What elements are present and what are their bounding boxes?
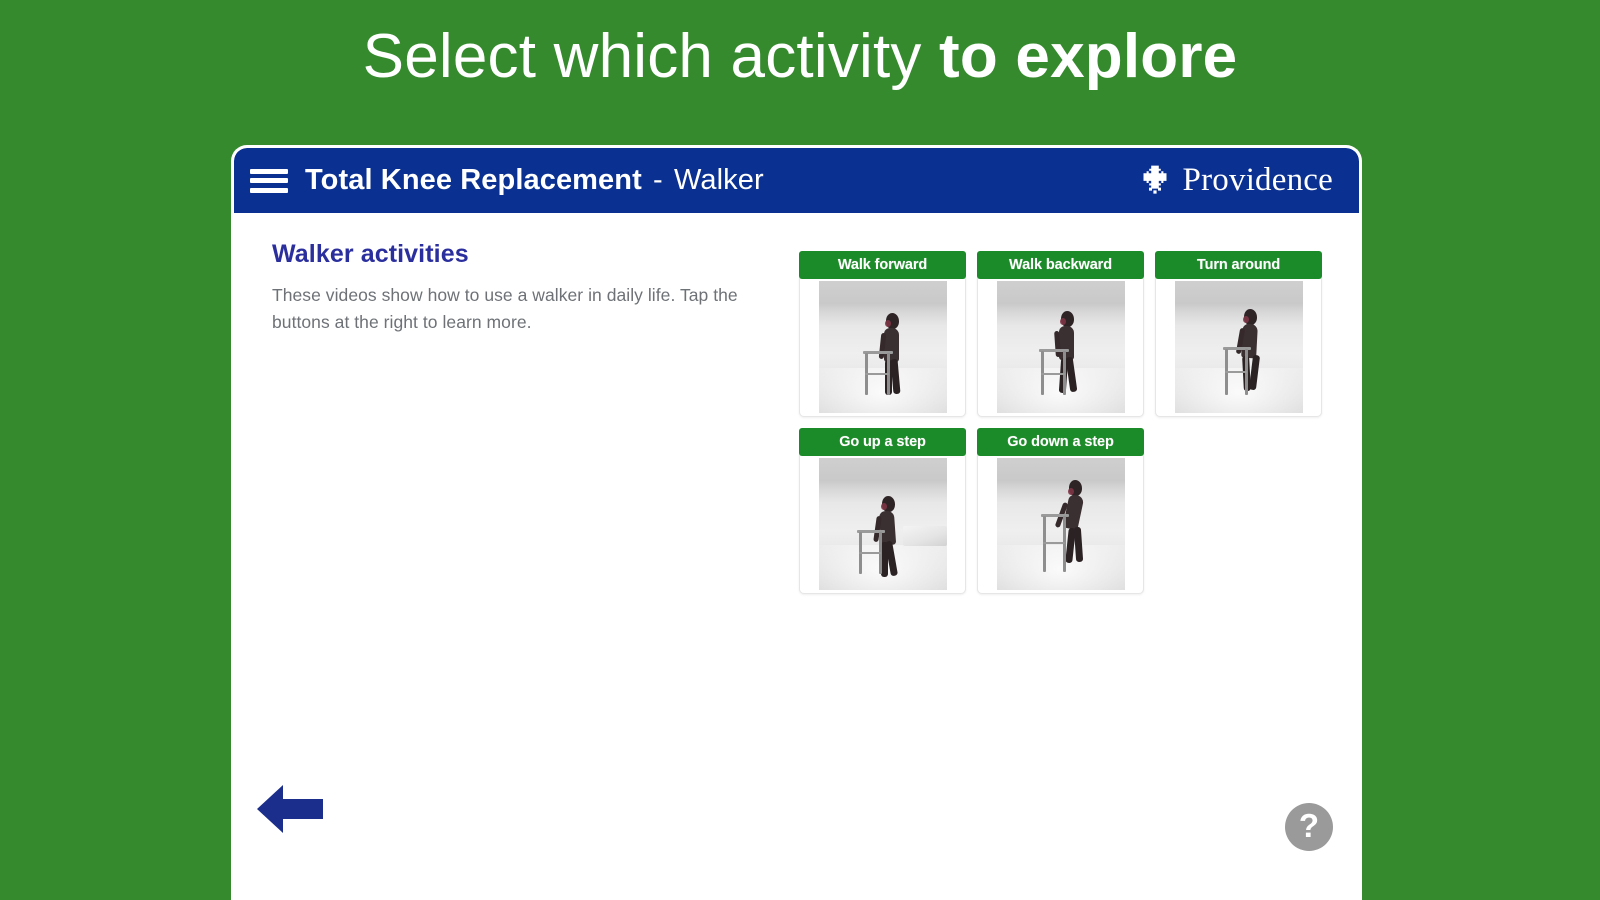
walker-cross-bar (859, 552, 881, 554)
activity-card-frame[interactable] (1155, 277, 1322, 417)
walker-cross-bar (1225, 371, 1247, 373)
activity-card-label[interactable]: Walk forward (799, 251, 966, 279)
activity-card-label[interactable]: Turn around (1155, 251, 1322, 279)
activity-card-frame[interactable] (799, 454, 966, 594)
activity-card-label[interactable]: Walk backward (977, 251, 1144, 279)
app-title-procedure: Total Knee Replacement (305, 164, 642, 196)
walker-go-up-a-step-video-thumbnail[interactable] (819, 458, 947, 590)
hamburger-bar (250, 178, 288, 183)
walker-walk-forward-video-thumbnail[interactable] (819, 281, 947, 413)
hamburger-menu-icon[interactable] (250, 166, 288, 196)
walker-go-down-a-step-video-thumbnail[interactable] (997, 458, 1125, 590)
figure-hair-accent (1060, 318, 1066, 325)
app-body: Walker activities These videos show how … (234, 213, 1359, 900)
walker-cross-bar (865, 373, 889, 375)
app-title-section: Walker (674, 164, 764, 196)
activity-card[interactable]: Walk backward (977, 251, 1144, 417)
back-arrow-glyph (257, 781, 325, 837)
activity-card-grid: Walk forward (799, 251, 1329, 594)
activity-card[interactable]: Go up a step (799, 428, 966, 594)
activity-card-label[interactable]: Go up a step (799, 428, 966, 456)
hamburger-bar (250, 188, 288, 193)
app-header: Total Knee Replacement - Walker Providen… (234, 148, 1359, 213)
section-heading: Walker activities (272, 240, 762, 269)
walker-leg (1063, 516, 1066, 572)
app-title: Total Knee Replacement - Walker (305, 164, 764, 197)
app-title-separator: - (642, 164, 674, 196)
brand-logo: Providence (1138, 164, 1341, 198)
section-body-text: These videos show how to use a walker in… (272, 282, 762, 335)
activity-card[interactable]: Turn around (1155, 251, 1322, 417)
walker-device (863, 351, 897, 397)
walker-device (1223, 347, 1257, 397)
providence-cross-icon (1138, 164, 1172, 198)
activity-card-label[interactable]: Go down a step (977, 428, 1144, 456)
activity-card[interactable]: Go down a step (977, 428, 1144, 594)
figure-leg (1073, 526, 1082, 561)
walker-device (857, 530, 889, 576)
activity-card-frame[interactable] (799, 277, 966, 417)
brand-name: Providence (1183, 164, 1333, 197)
help-button[interactable]: ? (1285, 803, 1333, 851)
figure-hair-accent (885, 320, 891, 327)
figure-hair-accent (881, 503, 887, 510)
activity-card-frame[interactable] (977, 277, 1144, 417)
app-panel: Total Knee Replacement - Walker Providen… (231, 145, 1362, 900)
slide-title-bold: to explore (939, 22, 1237, 91)
figure-hair-accent (1068, 488, 1074, 495)
activities-description-block: Walker activities These videos show how … (272, 240, 762, 335)
back-arrow-icon[interactable] (257, 781, 325, 837)
walker-device (1039, 349, 1073, 397)
walker-walk-backward-video-thumbnail[interactable] (997, 281, 1125, 413)
step-platform (903, 526, 947, 546)
walker-leg (1043, 516, 1046, 572)
walker-cross-bar (1041, 373, 1065, 375)
walker-cross-bar (1043, 542, 1065, 544)
walker-device (1041, 514, 1075, 574)
hamburger-bar (250, 169, 288, 174)
help-question-mark-icon: ? (1299, 809, 1319, 842)
slide-title-light: Select which activity (363, 22, 939, 91)
slide-title: Select which activity to explore (0, 26, 1600, 88)
figure-hair-accent (1243, 316, 1249, 323)
activity-card[interactable]: Walk forward (799, 251, 966, 417)
activity-card-frame[interactable] (977, 454, 1144, 594)
walker-turn-around-video-thumbnail[interactable] (1175, 281, 1303, 413)
